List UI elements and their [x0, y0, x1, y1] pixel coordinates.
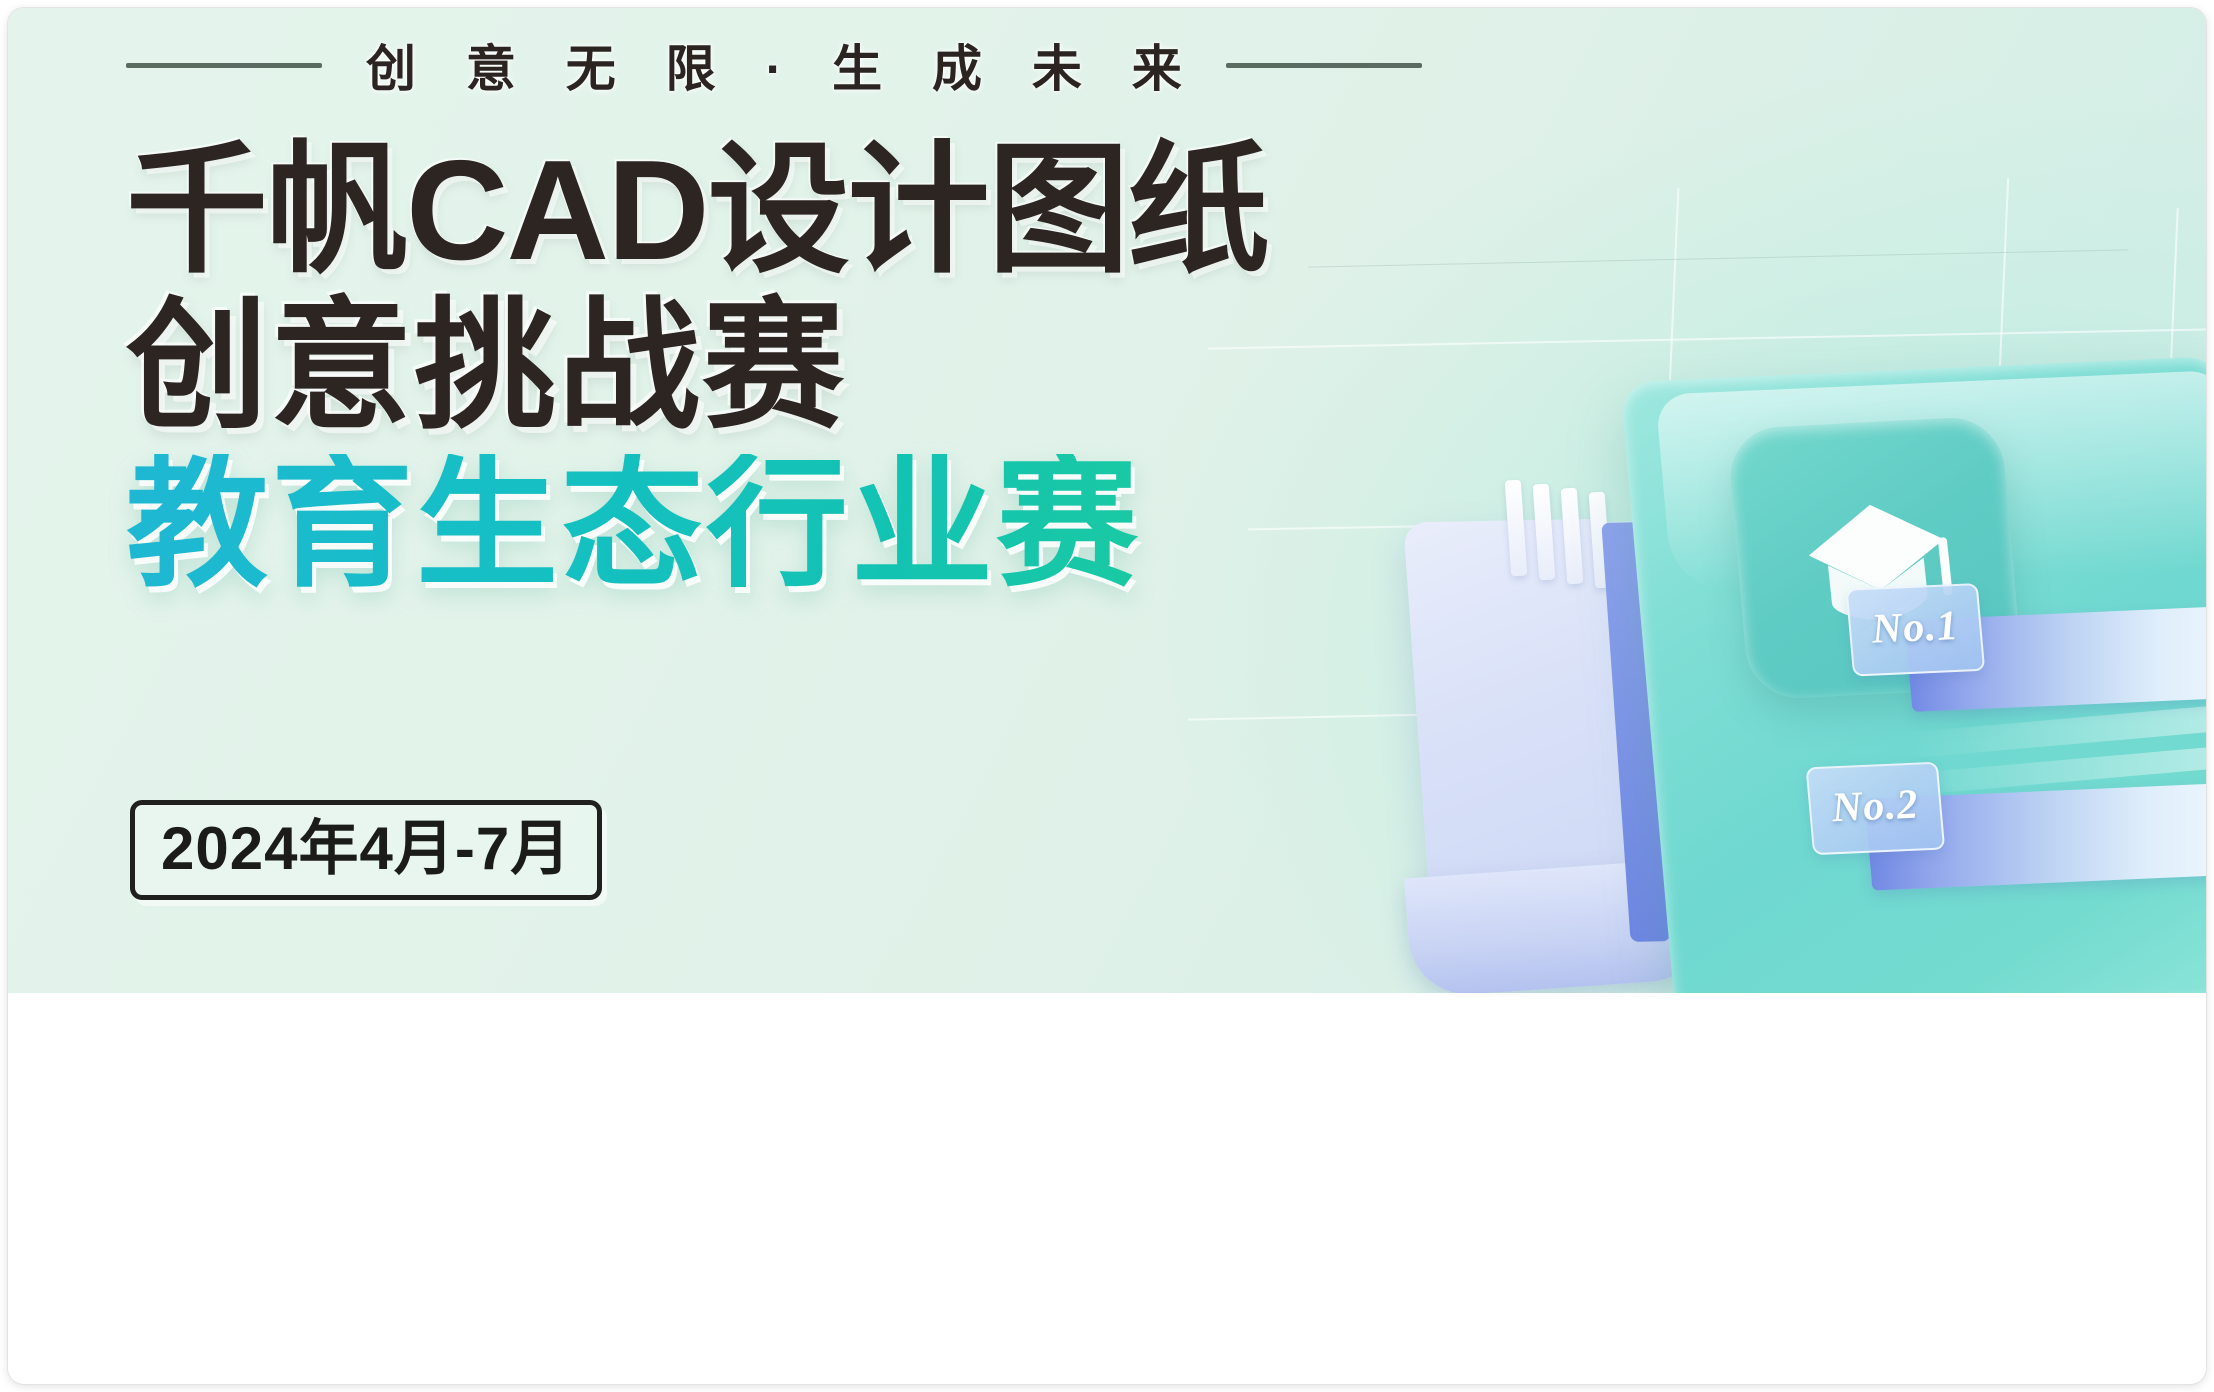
event-date-text: 2024年4月-7月: [161, 819, 571, 879]
banner-headline: 千帆CAD设计图纸 创意挑战赛 教育生态行业赛: [126, 140, 1606, 596]
promo-banner[interactable]: No.1 No.2 创 意 无 限 · 生 成 未 来 千帆CAD设计图纸: [8, 8, 2206, 993]
banner-tagline: 创 意 无 限 · 生 成 未 来: [126, 34, 1422, 96]
tagline-rule-left: [126, 63, 322, 68]
rank-tag-no2: No.2: [1806, 762, 1946, 855]
tagline-rule-right: [1226, 63, 1422, 68]
page-content-area: [8, 993, 2206, 1384]
rank-tag-label: No.2: [1808, 764, 1943, 849]
rank-tag-label: No.1: [1848, 585, 1983, 670]
event-date-badge: 2024年4月-7月: [130, 800, 602, 900]
banner-background: No.1 No.2 创 意 无 限 · 生 成 未 来 千帆CAD设计图纸: [8, 8, 2206, 993]
tagline-text: 创 意 无 限 · 生 成 未 来: [366, 29, 1200, 101]
headline-line-3: 教育生态行业赛: [126, 454, 1606, 596]
headline-line-1: 千帆CAD设计图纸: [126, 140, 1606, 282]
page-card: No.1 No.2 创 意 无 限 · 生 成 未 来 千帆CAD设计图纸: [8, 8, 2206, 1384]
headline-line-2: 创意挑战赛: [126, 296, 1606, 438]
rank-tag-no1: No.1: [1846, 583, 1986, 676]
